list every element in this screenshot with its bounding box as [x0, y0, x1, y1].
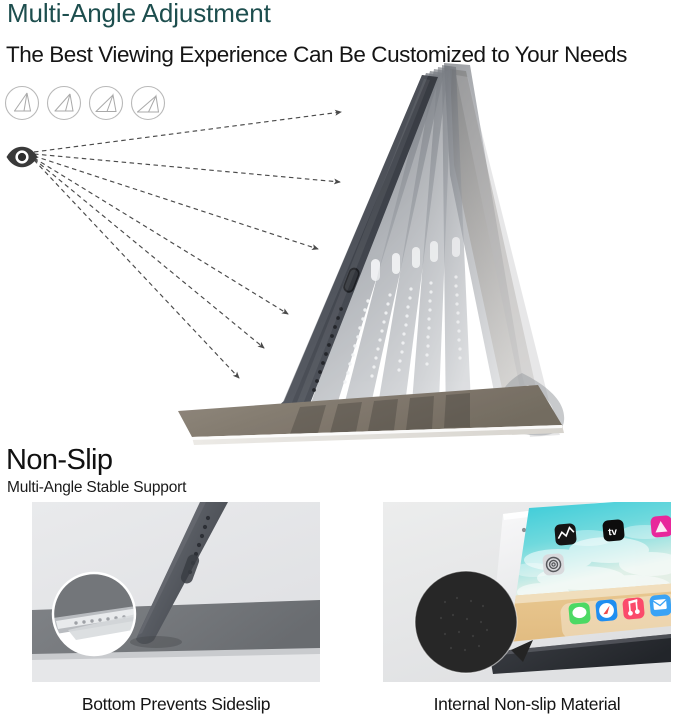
dock-icon-safari: [595, 599, 618, 622]
nonslip-title: Non-Slip: [6, 444, 112, 477]
feature-panel-bottom-sideslip: [32, 502, 320, 682]
dock-icon-messages: [568, 602, 591, 625]
angle-icon-medium: [87, 83, 125, 123]
app-icon-settings: [542, 553, 565, 576]
dock-icon-mail: [649, 594, 671, 617]
page-title: Multi-Angle Adjustment: [7, 0, 271, 29]
svg-text:tv: tv: [608, 527, 618, 539]
feature-panel-internal-material: tv: [383, 502, 671, 682]
tablet-stand-illustration: [150, 55, 570, 455]
caption-internal-material: Internal Non-slip Material: [383, 694, 671, 715]
eye-icon: [5, 146, 39, 168]
internal-material-photo: tv: [383, 502, 671, 682]
caption-bottom-sideslip: Bottom Prevents Sideslip: [32, 694, 320, 715]
angle-icon-row: [3, 83, 167, 123]
dock-icon-music: [622, 597, 645, 620]
app-icon-stocks: [554, 523, 577, 546]
device-ghost-layers: [302, 65, 472, 429]
app-icon-apple-tv: tv: [602, 519, 625, 542]
bottom-sideslip-photo: [32, 502, 320, 682]
nonslip-subtitle: Multi-Angle Stable Support: [7, 479, 186, 497]
angle-icon-upright: [45, 83, 83, 123]
angle-icon-steep: [3, 83, 41, 123]
app-icon-photos: [650, 515, 671, 538]
